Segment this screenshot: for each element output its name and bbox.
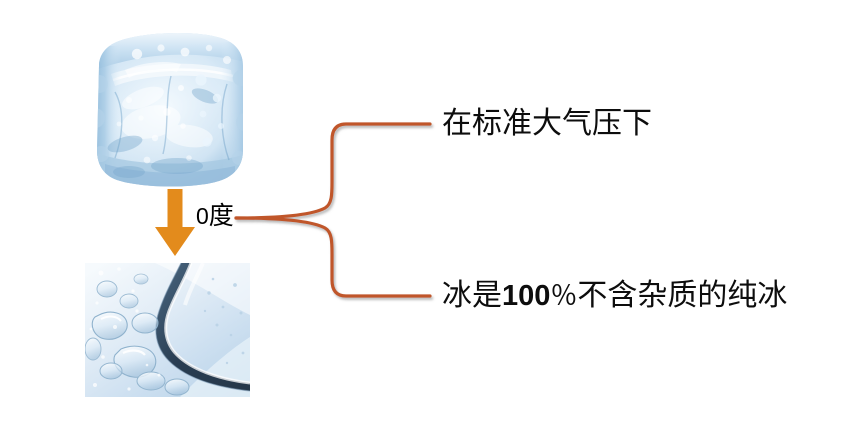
ice-cube-photo bbox=[85, 26, 255, 190]
callout-bottom-percent-value: 100 bbox=[502, 280, 550, 312]
temperature-value: 0 bbox=[196, 203, 209, 229]
callout-bottom-part-1: 冰是 bbox=[442, 278, 502, 313]
temperature-label: 0度 bbox=[196, 200, 234, 233]
down-arrow-icon bbox=[154, 189, 196, 257]
callout-bottom-part-2: 不含杂质的纯冰 bbox=[577, 278, 787, 313]
percent-sign: ％ bbox=[550, 281, 577, 312]
brace-connector bbox=[232, 108, 438, 308]
temperature-unit: 度 bbox=[209, 201, 234, 230]
callout-top: 在标准大气压下 bbox=[442, 105, 652, 143]
slide-canvas: 0度 bbox=[0, 0, 842, 435]
callout-bottom: 冰是100％不含杂质的纯冰 bbox=[442, 277, 787, 316]
water-droplets-photo bbox=[85, 263, 250, 397]
